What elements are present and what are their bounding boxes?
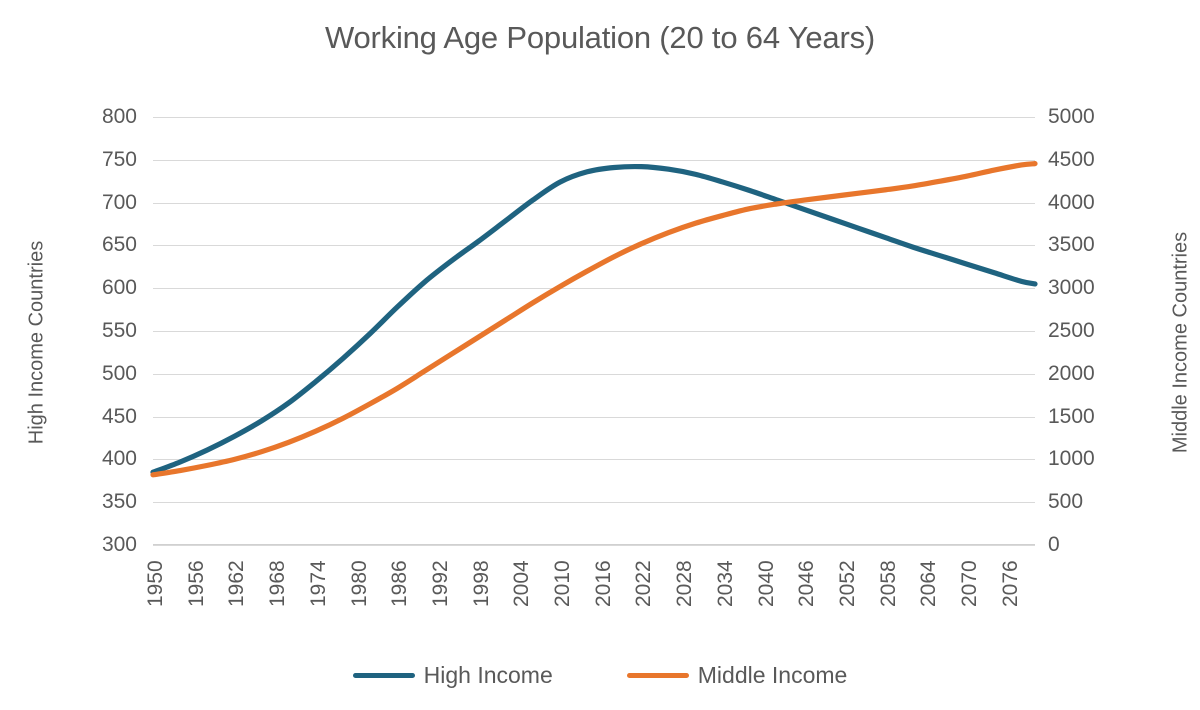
x-tick-label: 1992 bbox=[430, 560, 451, 607]
y-tick-label-left: 700 bbox=[102, 192, 137, 213]
legend-item[interactable]: Middle Income bbox=[627, 662, 848, 689]
y-tick-label-right: 5000 bbox=[1048, 106, 1095, 127]
y-tick-label-left: 500 bbox=[102, 363, 137, 384]
y-tick-label-left: 450 bbox=[102, 406, 137, 427]
x-tick-label: 2004 bbox=[511, 560, 532, 607]
x-tick-label: 2052 bbox=[837, 560, 858, 607]
x-tick-label: 2046 bbox=[796, 560, 817, 607]
y-tick-label-left: 550 bbox=[102, 320, 137, 341]
x-tick-label: 1998 bbox=[471, 560, 492, 607]
y-tick-label-left: 350 bbox=[102, 491, 137, 512]
y-tick-label-right: 3500 bbox=[1048, 234, 1095, 255]
y-tick-label-left: 800 bbox=[102, 106, 137, 127]
y-tick-label-right: 500 bbox=[1048, 491, 1083, 512]
chart-title: Working Age Population (20 to 64 Years) bbox=[0, 20, 1200, 56]
y-tick-label-left: 400 bbox=[102, 448, 137, 469]
legend-label: Middle Income bbox=[698, 662, 848, 689]
x-tick-label: 2076 bbox=[1000, 560, 1021, 607]
legend-swatch-icon bbox=[627, 673, 689, 678]
x-tick-label: 2016 bbox=[593, 560, 614, 607]
x-tick-label: 2064 bbox=[918, 560, 939, 607]
x-tick-label: 2022 bbox=[633, 560, 654, 607]
chart-legend: High IncomeMiddle Income bbox=[0, 662, 1200, 689]
y-tick-label-right: 2000 bbox=[1048, 363, 1095, 384]
chart-container: Working Age Population (20 to 64 Years) … bbox=[0, 0, 1200, 710]
y-tick-label-right: 3000 bbox=[1048, 277, 1095, 298]
x-tick-label: 1956 bbox=[186, 560, 207, 607]
y-axis-title-right: Middle Income Countries bbox=[1170, 193, 1193, 493]
x-tick-label: 2040 bbox=[756, 560, 777, 607]
series-line-high-income bbox=[153, 167, 1035, 473]
x-tick-label: 1962 bbox=[226, 560, 247, 607]
x-tick-label: 1968 bbox=[267, 560, 288, 607]
y-tick-label-right: 0 bbox=[1048, 534, 1060, 555]
x-tick-label: 1950 bbox=[145, 560, 166, 607]
x-tick-label: 1980 bbox=[349, 560, 370, 607]
x-tick-label: 1974 bbox=[308, 560, 329, 607]
y-tick-label-right: 4500 bbox=[1048, 149, 1095, 170]
x-tick-label: 1986 bbox=[389, 560, 410, 607]
gridline bbox=[153, 545, 1035, 546]
x-tick-label: 2034 bbox=[715, 560, 736, 607]
x-tick-label: 2010 bbox=[552, 560, 573, 607]
y-tick-label-left: 600 bbox=[102, 277, 137, 298]
y-tick-label-left: 650 bbox=[102, 234, 137, 255]
plot-area bbox=[153, 117, 1035, 545]
x-tick-label: 2070 bbox=[959, 560, 980, 607]
x-tick-label: 2058 bbox=[878, 560, 899, 607]
y-tick-label-right: 1000 bbox=[1048, 448, 1095, 469]
series-line-middle-income bbox=[153, 164, 1035, 475]
y-tick-label-left: 750 bbox=[102, 149, 137, 170]
legend-swatch-icon bbox=[353, 673, 415, 678]
legend-label: High Income bbox=[424, 662, 553, 689]
y-tick-label-left: 300 bbox=[102, 534, 137, 555]
y-axis-title-left: High Income Countries bbox=[26, 193, 49, 493]
y-tick-label-right: 4000 bbox=[1048, 192, 1095, 213]
y-tick-label-right: 2500 bbox=[1048, 320, 1095, 341]
legend-item[interactable]: High Income bbox=[353, 662, 553, 689]
series-lines bbox=[153, 117, 1035, 545]
x-tick-label: 2028 bbox=[674, 560, 695, 607]
y-tick-label-right: 1500 bbox=[1048, 406, 1095, 427]
